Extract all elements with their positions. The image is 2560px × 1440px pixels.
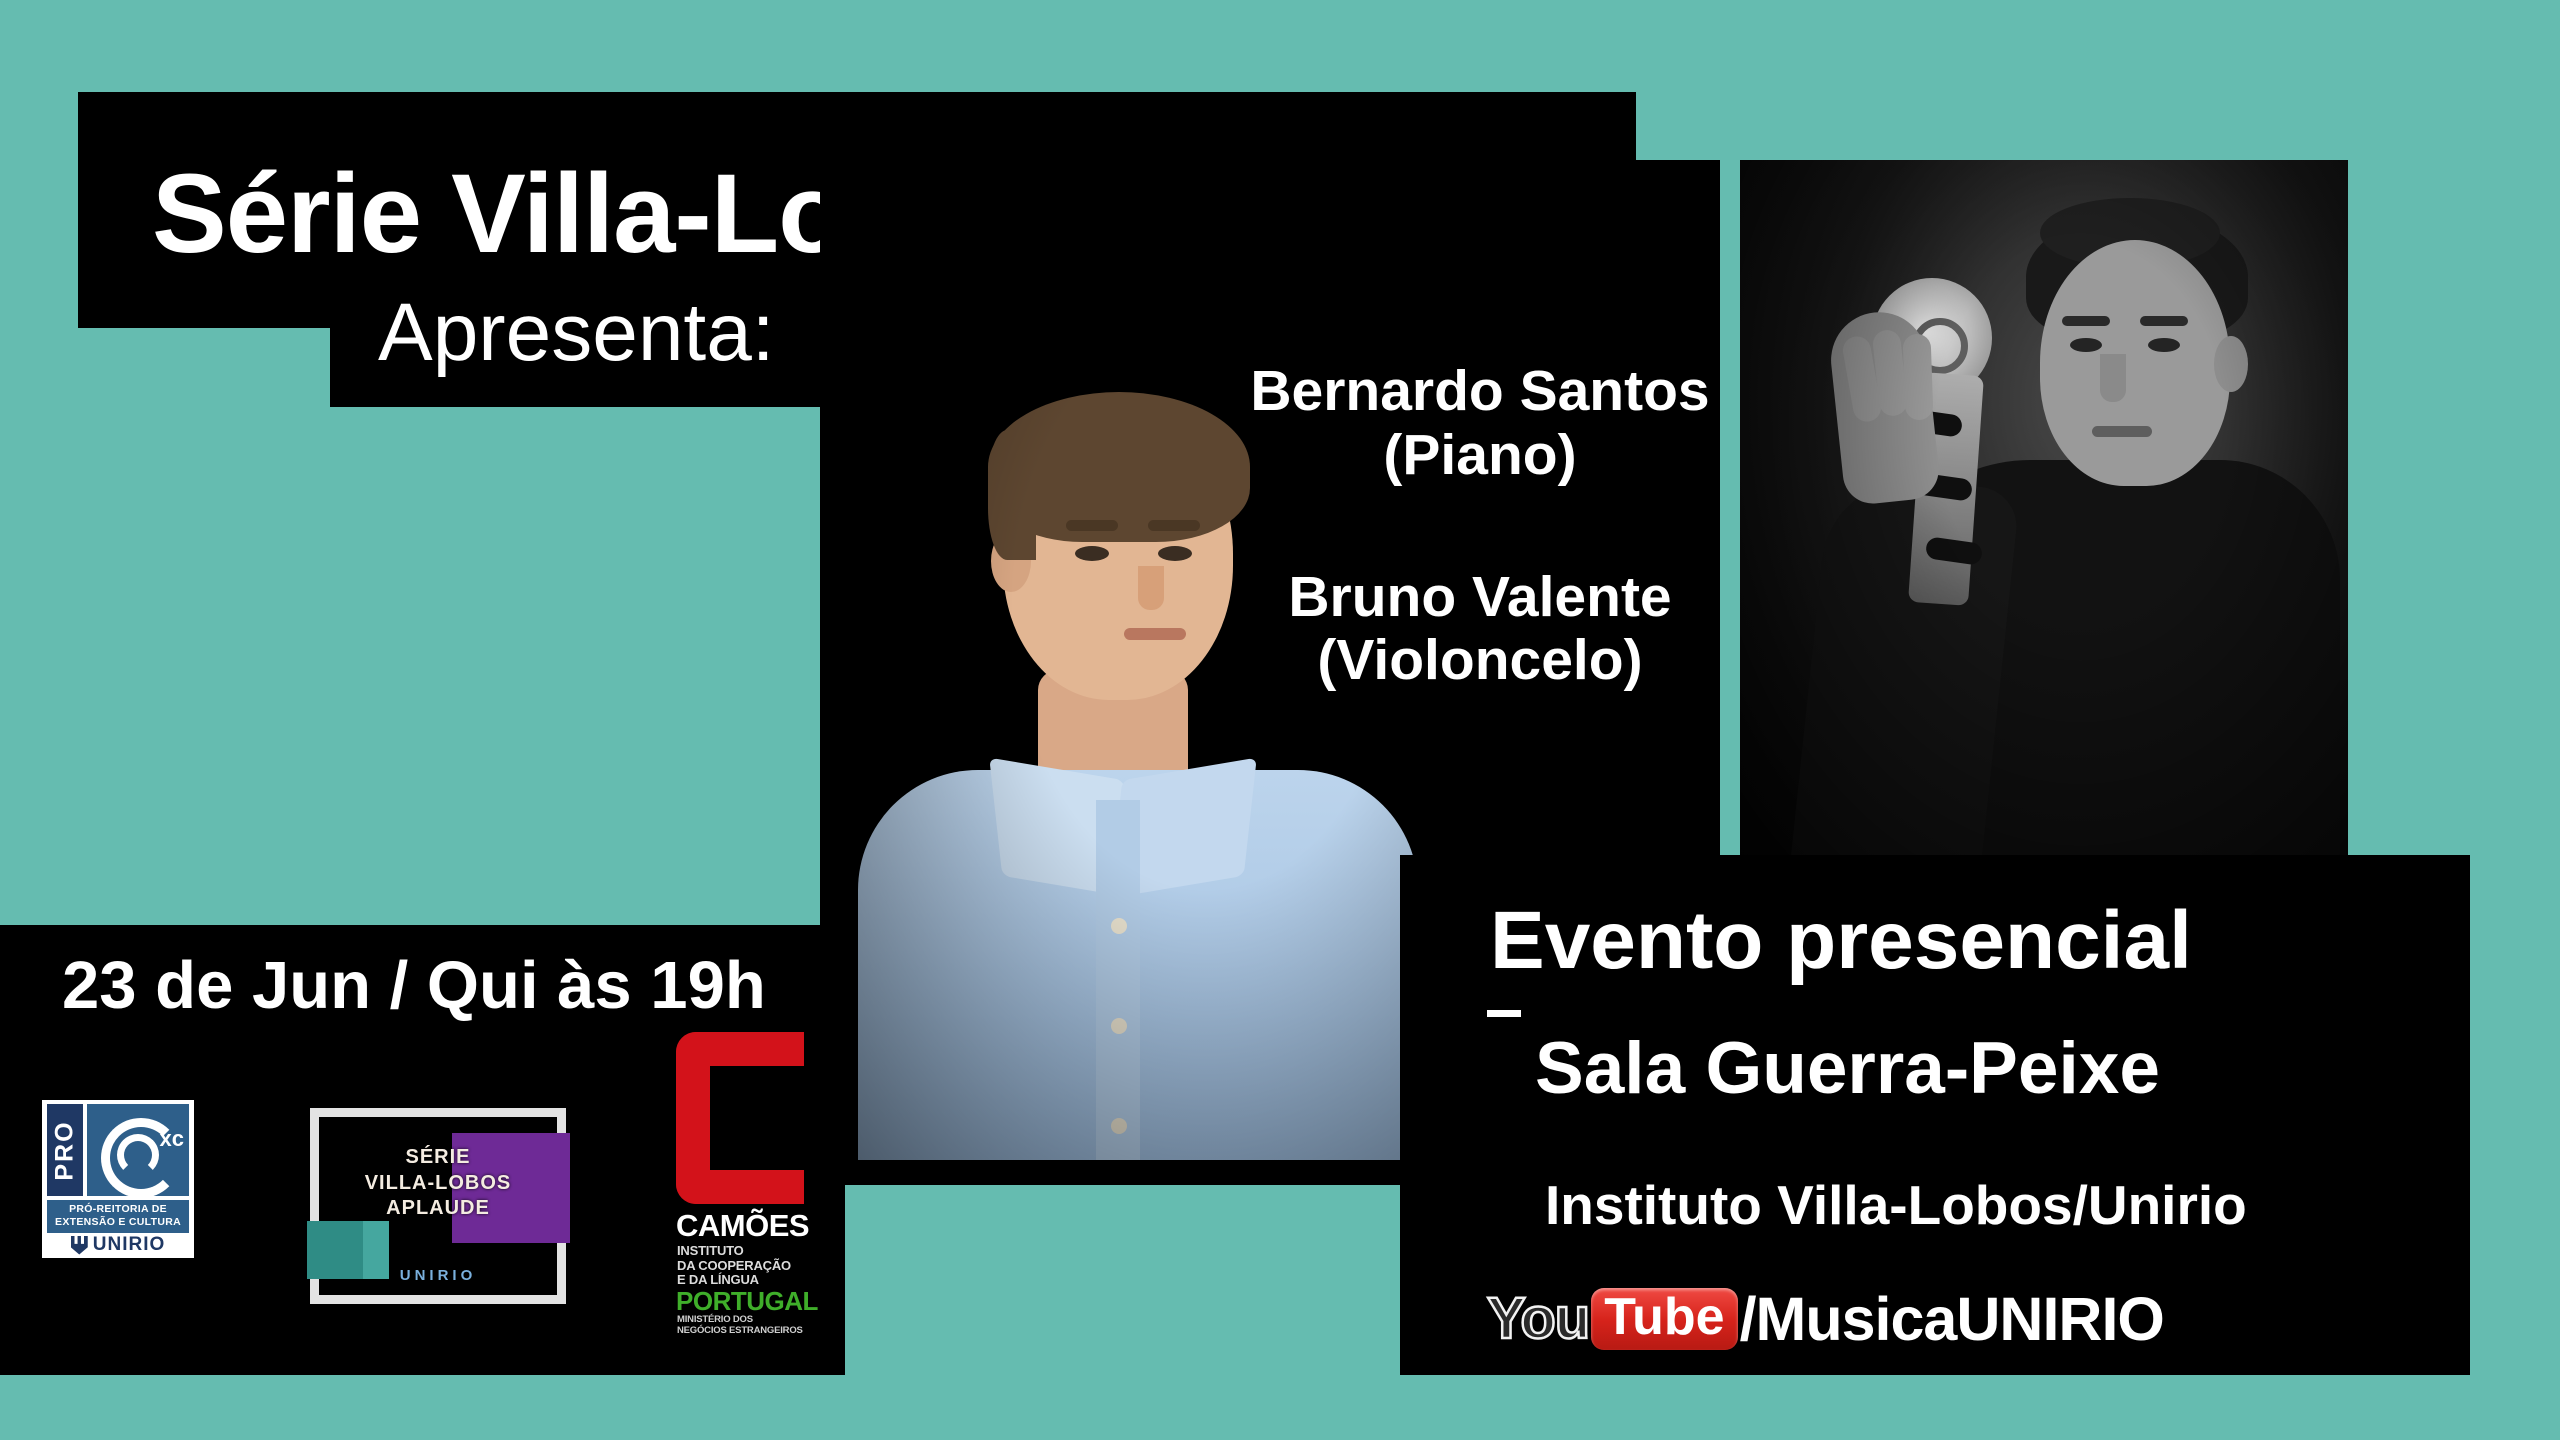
youtube-link[interactable]: You Tube /MusicaUNIRIO bbox=[1487, 1288, 2164, 1350]
proexc-logo: PRO xc PRÓ-REITORIA DE EXTENSÃO E CULTUR… bbox=[42, 1100, 194, 1258]
serie-logo-line2: VILLA-LOBOS bbox=[319, 1171, 557, 1197]
performers-list: Bernardo Santos (Piano) Bruno Valente (V… bbox=[1190, 360, 1770, 693]
cellist-photo bbox=[1740, 160, 2348, 866]
proexc-e-mark: xc bbox=[87, 1104, 189, 1196]
proexc-university: UNIRIO bbox=[47, 1234, 189, 1256]
nose-shape bbox=[1138, 566, 1164, 610]
camoes-name: CAMÕES bbox=[676, 1210, 809, 1241]
event-date-time: 23 de Jun / Qui às 19h bbox=[62, 952, 766, 1019]
proexc-band: PRÓ-REITORIA DE EXTENSÃO E CULTURA bbox=[47, 1200, 189, 1233]
youtube-handle: /MusicaUNIRIO bbox=[1740, 1289, 2164, 1350]
shirt-button bbox=[1111, 1118, 1127, 1134]
serie-logo-line1: SÉRIE bbox=[319, 1145, 557, 1171]
proexc-mark-area: PRO xc bbox=[42, 1100, 194, 1200]
camoes-sub-line1: INSTITUTO bbox=[677, 1244, 791, 1259]
dash-icon bbox=[1487, 1010, 1521, 1017]
proexc-university-text: UNIRIO bbox=[93, 1234, 166, 1256]
camoes-logo: CAMÕES INSTITUTO DA COOPERAÇÃO E DA LÍNG… bbox=[672, 1032, 820, 1332]
camoes-ministry: MINISTÉRIO DOS NEGÓCIOS ESTRANGEIROS bbox=[677, 1315, 803, 1337]
camoes-sub-line2: DA COOPERAÇÃO bbox=[677, 1259, 791, 1274]
eyebrow-shape bbox=[1066, 520, 1118, 531]
proexc-band-line2: EXTENSÃO E CULTURA bbox=[47, 1216, 189, 1229]
photo-vignette bbox=[1740, 160, 2348, 866]
venue-room: Sala Guerra-Peixe bbox=[1535, 1032, 2160, 1105]
proexc-band-line1: PRÓ-REITORIA DE bbox=[47, 1203, 189, 1216]
proexc-pro-text: PRO bbox=[51, 1120, 80, 1180]
serie-villa-lobos-logo: SÉRIE VILLA-LOBOS APLAUDE UNIRIO bbox=[310, 1108, 566, 1304]
hair-side-shape bbox=[988, 430, 1036, 560]
proexc-pro-mark: PRO bbox=[47, 1104, 83, 1196]
event-mode: Evento presencial bbox=[1490, 900, 2192, 982]
spacer bbox=[1190, 488, 1770, 566]
camoes-c-arm-top bbox=[712, 1032, 804, 1066]
performer-instrument: (Violoncelo) bbox=[1190, 629, 1770, 693]
spiral-inner-icon bbox=[117, 1134, 159, 1176]
youtube-tube-badge: Tube bbox=[1591, 1288, 1737, 1350]
performer-instrument: (Piano) bbox=[1190, 424, 1770, 488]
mouth-shape bbox=[1124, 628, 1186, 640]
shirt-button bbox=[1111, 918, 1127, 934]
eye-shape bbox=[1075, 546, 1109, 561]
unirio-crest-icon bbox=[71, 1236, 88, 1255]
serie-logo-text: SÉRIE VILLA-LOBOS APLAUDE bbox=[319, 1145, 557, 1222]
venue-institution: Instituto Villa-Lobos/Unirio bbox=[1545, 1178, 2247, 1233]
camoes-c-arm-bottom bbox=[712, 1170, 804, 1204]
shirt-placket-shape bbox=[1096, 800, 1140, 1160]
proexc-xc-text: xc bbox=[160, 1126, 184, 1152]
serie-logo-university: UNIRIO bbox=[319, 1267, 557, 1284]
serie-logo-line3: APLAUDE bbox=[319, 1196, 557, 1222]
event-poster: Série Villa-Lobos Aplaude Apresenta: bbox=[0, 0, 2560, 1440]
performer-name: Bernardo Santos bbox=[1190, 360, 1770, 424]
subtitle: Apresenta: bbox=[378, 292, 775, 374]
eye-shape bbox=[1158, 546, 1192, 561]
shirt-button bbox=[1111, 1018, 1127, 1034]
camoes-ministry-line2: NEGÓCIOS ESTRANGEIROS bbox=[677, 1326, 803, 1337]
performer-name: Bruno Valente bbox=[1190, 566, 1770, 630]
camoes-subtitle: INSTITUTO DA COOPERAÇÃO E DA LÍNGUA bbox=[677, 1244, 791, 1288]
youtube-you-text: You bbox=[1487, 1290, 1589, 1348]
camoes-country: PORTUGAL bbox=[676, 1288, 818, 1314]
